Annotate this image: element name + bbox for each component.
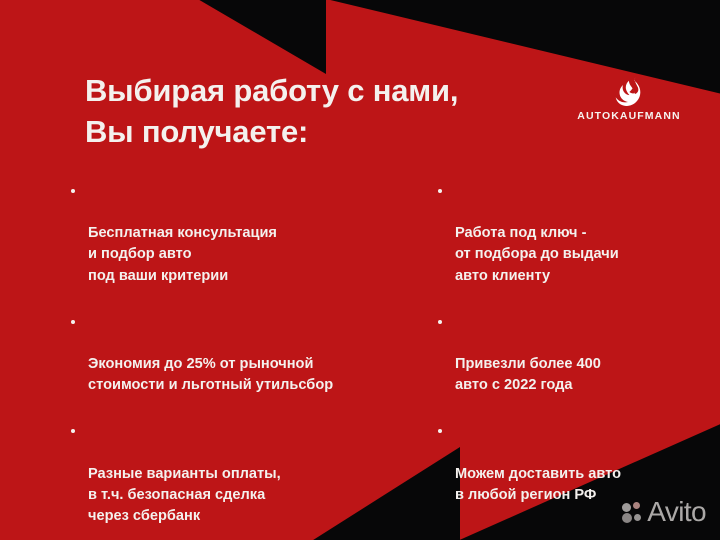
bullet-dot-icon xyxy=(438,320,442,324)
benefits-column-left: Бесплатная консультация и подбор авто по… xyxy=(70,181,415,540)
list-item: Бесплатная консультация и подбор авто по… xyxy=(70,181,415,287)
list-item-label: Привезли более 400 авто с 2022 года xyxy=(455,356,601,393)
list-item: Работа под ключ - от подбора до выдачи а… xyxy=(437,181,687,287)
avito-watermark: Avito xyxy=(622,498,706,526)
avito-wordmark: Avito xyxy=(647,498,706,526)
brand-logo: AUTOKAUFMANN xyxy=(577,76,681,122)
top-left-black-triangle xyxy=(196,0,326,74)
bullet-dot-icon xyxy=(71,189,75,193)
logo-wordmark: AUTOKAUFMANN xyxy=(577,110,681,122)
list-item: Разные варианты оплаты, в т.ч. безопасна… xyxy=(70,421,415,527)
list-item: Экономия до 25% от рыночной стоимости и … xyxy=(70,312,415,397)
page-title: Выбирая работу с нами, Вы получаете: xyxy=(85,70,585,152)
bullet-dot-icon xyxy=(71,320,75,324)
bullet-dot-icon xyxy=(438,189,442,193)
promo-banner: Выбирая работу с нами, Вы получаете: AUT… xyxy=(0,0,720,540)
bullet-dot-icon xyxy=(438,429,442,433)
flame-swoosh-emblem-icon xyxy=(612,76,646,106)
list-item-label: Бесплатная консультация и подбор авто по… xyxy=(88,225,277,283)
list-item-label: Работа под ключ - от подбора до выдачи а… xyxy=(455,225,619,283)
list-item-label: Экономия до 25% от рыночной стоимости и … xyxy=(88,356,333,393)
avito-dots-icon xyxy=(622,502,643,523)
benefits-column-right: Работа под ключ - от подбора до выдачи а… xyxy=(437,181,687,540)
list-item: Привезли более 400 авто с 2022 года xyxy=(437,312,687,397)
list-item-label: Можем доставить авто в любой регион РФ xyxy=(455,466,621,503)
list-item: Можем доставить авто в любой регион РФ xyxy=(437,421,687,506)
benefits-columns: Бесплатная консультация и подбор авто по… xyxy=(70,181,690,540)
list-item-label: Разные варианты оплаты, в т.ч. безопасна… xyxy=(88,466,281,524)
bullet-dot-icon xyxy=(71,429,75,433)
